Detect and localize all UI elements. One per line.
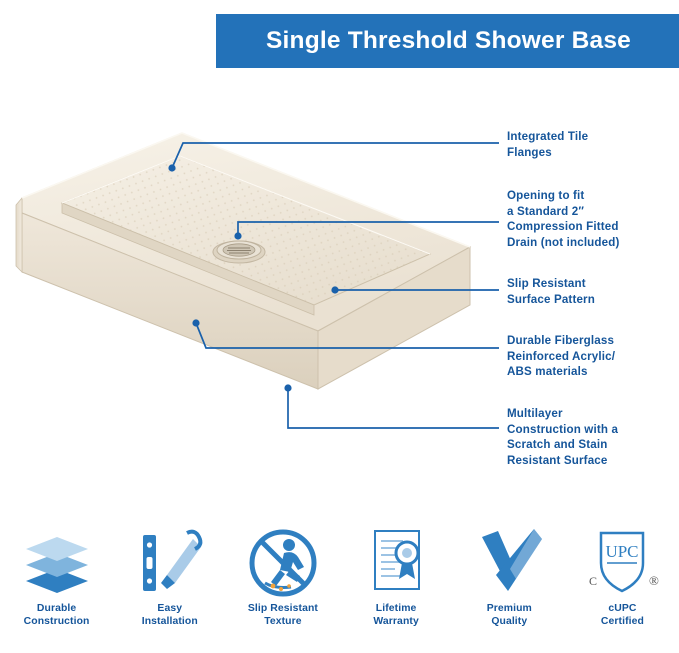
feature-label: Slip Resistant Texture bbox=[248, 602, 318, 628]
feature-label: Lifetime Warranty bbox=[373, 602, 418, 628]
product-feature-diagram: Single Threshold Shower Base bbox=[0, 0, 679, 653]
upc-badge-left: C bbox=[589, 574, 597, 588]
callout-line: Resistant Surface bbox=[507, 453, 679, 469]
feature-easy-installation: Easy Installation bbox=[113, 520, 226, 653]
layers-icon bbox=[18, 525, 96, 597]
callout-slip-resistant-surface: Slip Resistant Surface Pattern bbox=[507, 276, 679, 307]
callout-line: a Standard 2″ bbox=[507, 204, 679, 220]
callout-line: Compression Fitted bbox=[507, 219, 679, 235]
icon-wrap: UPC C ® bbox=[579, 520, 665, 602]
callout-line: Opening to fit bbox=[507, 188, 679, 204]
feature-cupc-certified: UPC C ® cUPC Certified bbox=[566, 520, 679, 653]
certificate-icon bbox=[361, 523, 431, 599]
callout-materials: Durable Fiberglass Reinforced Acrylic/ A… bbox=[507, 333, 679, 380]
callout-line: Scratch and Stain bbox=[507, 437, 679, 453]
level-trowel-icon bbox=[131, 523, 209, 599]
icon-wrap bbox=[472, 520, 546, 602]
callout-drain-opening: Opening to fit a Standard 2″ Compression… bbox=[507, 188, 679, 250]
icon-wrap bbox=[131, 520, 209, 602]
callout-line: Drain (not included) bbox=[507, 235, 679, 251]
icon-wrap bbox=[243, 520, 323, 602]
no-slip-icon bbox=[243, 523, 323, 599]
feature-label: cUPC Certified bbox=[601, 602, 644, 628]
callout-line: Surface Pattern bbox=[507, 292, 679, 308]
feature-label: Premium Quality bbox=[487, 602, 532, 628]
callout-line: Construction with a bbox=[507, 422, 679, 438]
checkmark-ribbon-icon bbox=[472, 523, 546, 599]
feature-durable-construction: Durable Construction bbox=[0, 520, 113, 653]
callout-line: ABS materials bbox=[507, 364, 679, 380]
callout-line: Slip Resistant bbox=[507, 276, 679, 292]
upc-badge-right: ® bbox=[649, 573, 659, 588]
callout-line: Integrated Tile bbox=[507, 129, 679, 145]
feature-label: Easy Installation bbox=[142, 602, 198, 628]
callout-line: Multilayer bbox=[507, 406, 679, 422]
callout-line: Durable Fiberglass bbox=[507, 333, 679, 349]
feature-premium-quality: Premium Quality bbox=[453, 520, 566, 653]
feature-label: Durable Construction bbox=[24, 602, 90, 628]
upc-badge-text: UPC bbox=[606, 542, 639, 561]
callout-line: Reinforced Acrylic/ bbox=[507, 349, 679, 365]
callout-integrated-tile-flanges: Integrated Tile Flanges bbox=[507, 129, 679, 160]
feature-lifetime-warranty: Lifetime Warranty bbox=[340, 520, 453, 653]
icon-wrap bbox=[18, 520, 96, 602]
feature-slip-resistant-texture: Slip Resistant Texture bbox=[226, 520, 339, 653]
callout-line: Flanges bbox=[507, 145, 679, 161]
feature-strip: Durable Construction Ea bbox=[0, 520, 679, 653]
callout-multilayer-construction: Multilayer Construction with a Scratch a… bbox=[507, 406, 679, 468]
upc-shield-icon: UPC C ® bbox=[579, 523, 665, 599]
icon-wrap bbox=[361, 520, 431, 602]
